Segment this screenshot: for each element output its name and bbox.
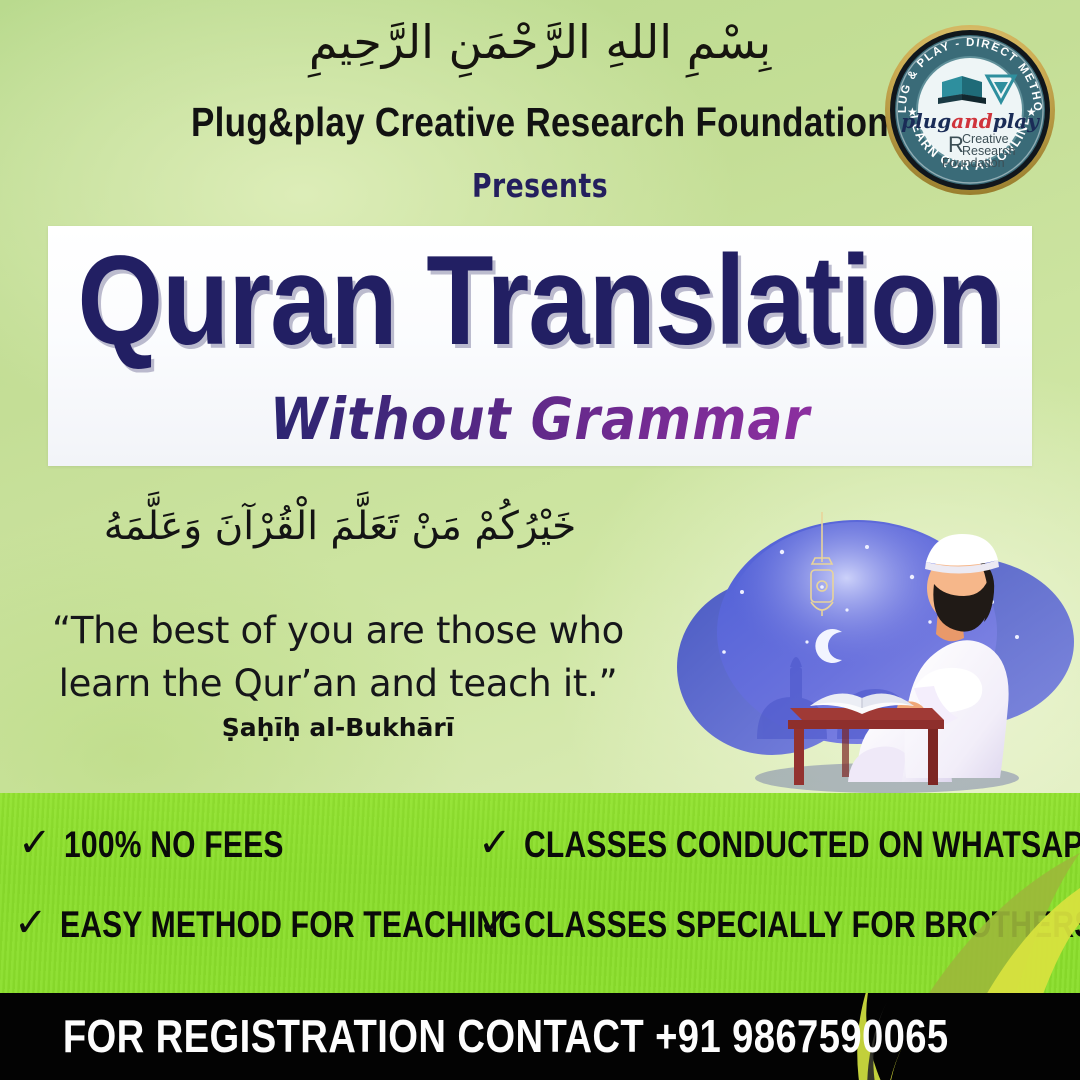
feature-item: ✓ CLASSES SPECIALLY FOR BROTHERS [478, 905, 1080, 945]
feature-label: 100% NO FEES [64, 823, 284, 866]
footer-bar: FOR REGISTRATION CONTACT +91 9867590065 [0, 993, 1080, 1080]
features-band: ✓ 100% NO FEES ✓ CLASSES CONDUCTED ON WH… [0, 793, 1080, 993]
feature-label: CLASSES SPECIALLY FOR BROTHERS [524, 903, 1080, 946]
logo-badge[interactable]: PLUG & PLAY - DIRECT METHOD LEARN QUR'AN… [884, 24, 1056, 196]
hadith-arabic-text: خَيْرُكُمْ مَنْ تَعَلَّمَ الْقُرْآنَ وَع… [40, 498, 640, 557]
hadith-english-line2: learn the Qur’an and teach it.” [38, 658, 638, 711]
check-icon: ✓ [14, 903, 48, 943]
check-icon: ✓ [478, 823, 512, 863]
feature-item: ✓ 100% NO FEES [18, 825, 290, 865]
page-title: Quran Translation [18, 238, 1061, 365]
feature-item: ✓ CLASSES CONDUCTED ON WHATSAPP [478, 825, 1080, 865]
page-subtitle: Without Grammar [48, 391, 1032, 449]
feature-item: ✓ EASY METHOD FOR TEACHING [14, 905, 536, 945]
title-card: Quran Translation Without Grammar [48, 226, 1032, 466]
feature-label: EASY METHOD FOR TEACHING [60, 903, 522, 946]
poster-canvas: بِسْمِ اللهِ الرَّحْمَنِ الرَّحِيمِ Plug… [0, 0, 1080, 1080]
logo-line-foundation: Foundation [942, 156, 1005, 170]
hadith-english-text: “The best of you are those who learn the… [38, 605, 638, 710]
check-icon: ✓ [478, 903, 512, 943]
logo-wordmark: plugandplay [901, 109, 1040, 133]
hadith-english-line1: “The best of you are those who [38, 605, 638, 658]
registration-contact-text[interactable]: FOR REGISTRATION CONTACT +91 9867590065 [11, 1012, 1069, 1064]
man-reading-quran-illustration [662, 492, 1074, 802]
check-icon: ✓ [18, 823, 52, 863]
feature-label: CLASSES CONDUCTED ON WHATSAPP [524, 823, 1080, 866]
hadith-source: Ṣaḥīḥ al-Bukhārī [38, 713, 638, 742]
